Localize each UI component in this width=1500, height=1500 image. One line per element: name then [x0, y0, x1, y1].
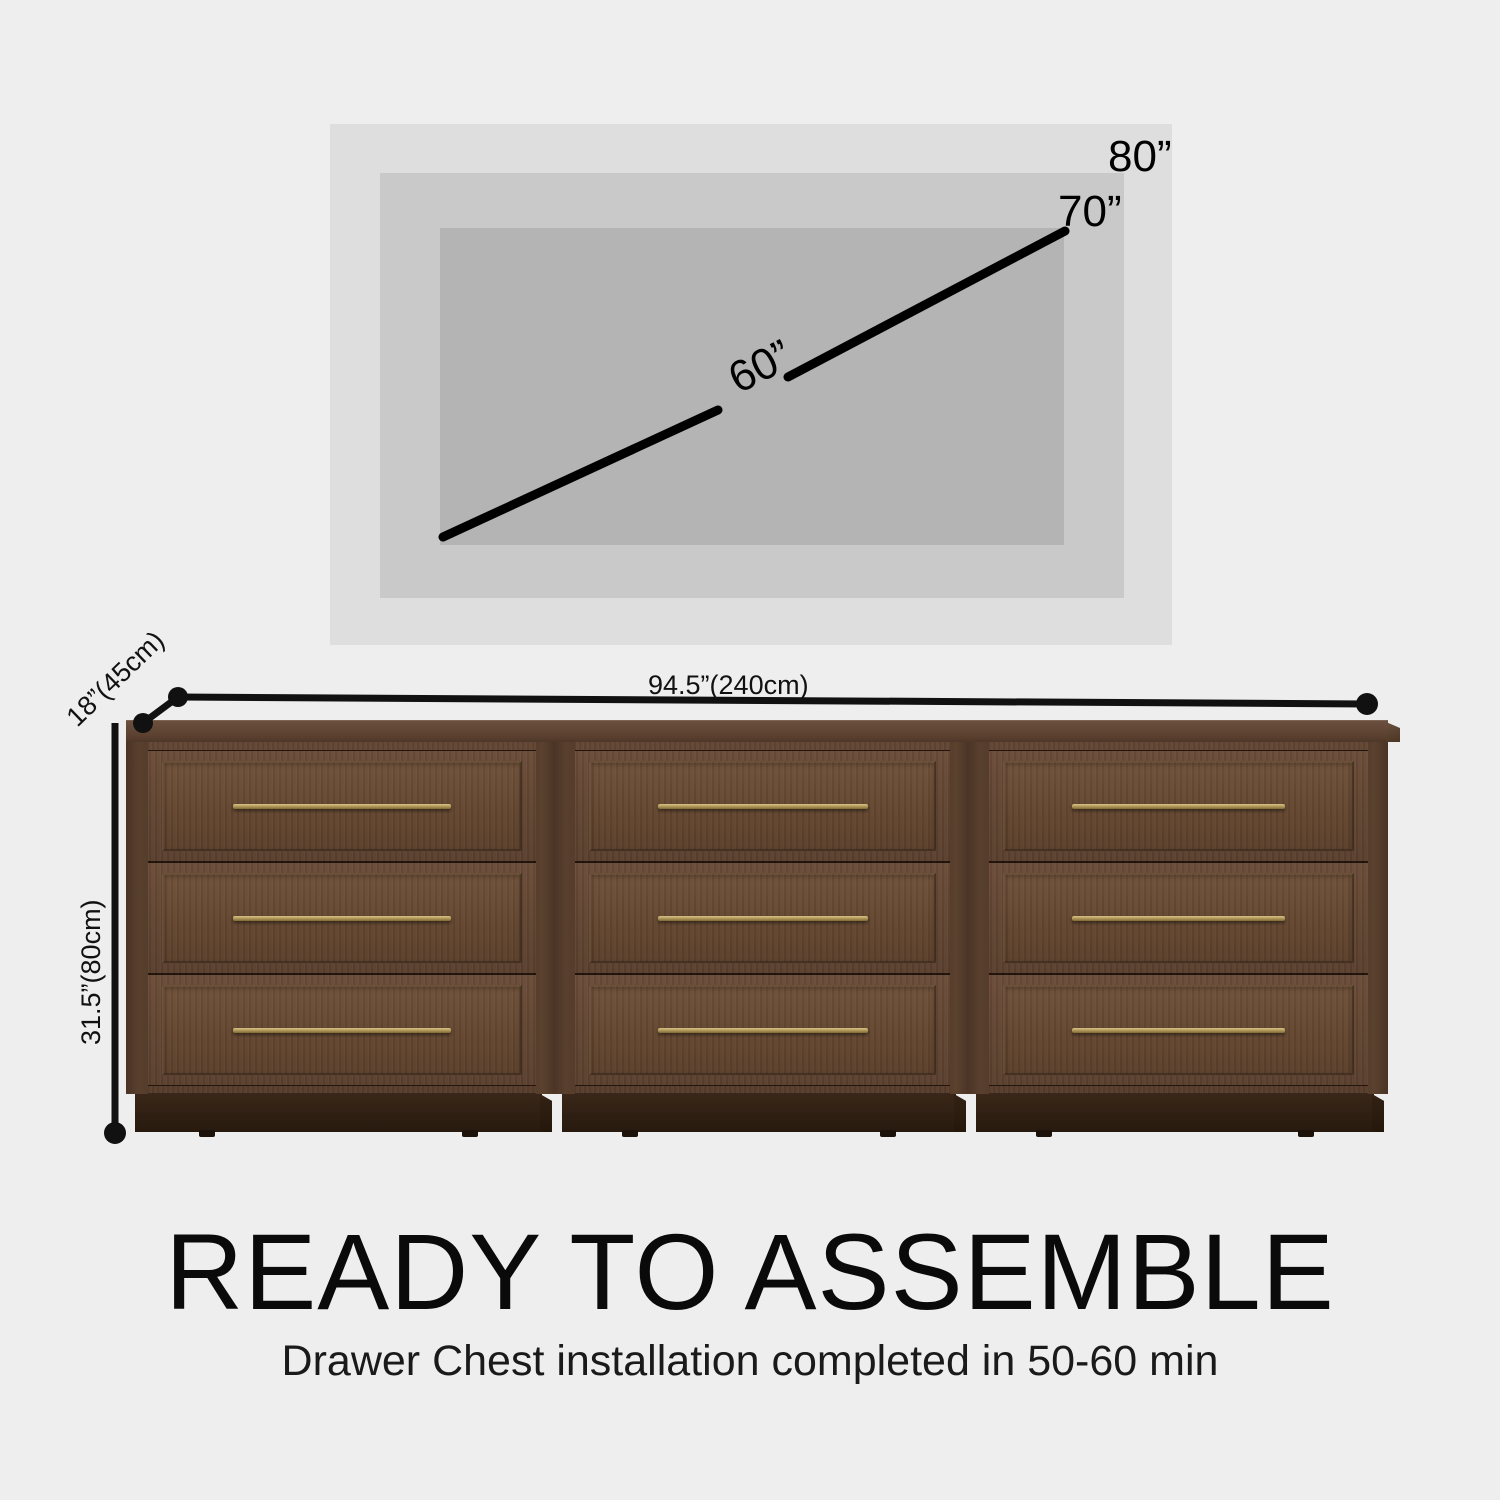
- drawer-front[interactable]: [148, 974, 536, 1086]
- module-plinth-base: [135, 1094, 542, 1132]
- module-plinth-base: [976, 1094, 1374, 1132]
- module-left-stile: [553, 742, 575, 1094]
- plinth-foot: [1036, 1130, 1052, 1137]
- module-left-stile: [967, 742, 989, 1094]
- drawer-pull-handle[interactable]: [658, 804, 868, 809]
- plinth-foot: [1298, 1130, 1314, 1137]
- marketing-headline: READY TO ASSEMBLE: [0, 1218, 1500, 1326]
- height-dimension-label: 31.5”(80cm): [78, 899, 105, 1045]
- drawer-pull-handle[interactable]: [233, 1028, 450, 1033]
- drawer-pull-handle[interactable]: [1072, 804, 1284, 809]
- screen-size-diagram: 80” 70” 60”: [330, 124, 1172, 645]
- module-carcass: [126, 720, 556, 1094]
- plinth-foot: [462, 1130, 478, 1137]
- width-start-dot: [168, 687, 188, 707]
- plinth-foot: [880, 1130, 896, 1137]
- drawer-front[interactable]: [148, 862, 536, 974]
- plinth-foot: [199, 1130, 215, 1137]
- drawer-front[interactable]: [989, 750, 1368, 862]
- drawer-stack: [989, 750, 1368, 1080]
- drawer-pull-handle[interactable]: [1072, 1028, 1284, 1033]
- screen-label-80in: 80”: [1108, 135, 1172, 179]
- drawer-pull-handle[interactable]: [658, 916, 868, 921]
- drawer-pull-handle[interactable]: [233, 916, 450, 921]
- drawer-front[interactable]: [989, 974, 1368, 1086]
- drawer-pull-handle[interactable]: [658, 1028, 868, 1033]
- marketing-subheadline: Drawer Chest installation completed in 5…: [0, 1340, 1500, 1383]
- module-right-stile: [1368, 742, 1388, 1094]
- module-carcass: [967, 720, 1388, 1094]
- module-left-stile: [126, 742, 148, 1094]
- drawer-chest-illustration: [126, 706, 1388, 1156]
- module-plinth-base: [562, 1094, 956, 1132]
- height-end-dot: [104, 1122, 126, 1144]
- poster-canvas: 80” 70” 60”: [0, 0, 1500, 1500]
- module-top-cap: [126, 720, 556, 742]
- screen-label-70in: 70”: [1058, 190, 1122, 234]
- drawer-pull-handle[interactable]: [233, 804, 450, 809]
- module-top-cap: [553, 720, 970, 742]
- width-dimension-label: 94.5”(240cm): [648, 672, 809, 699]
- module-carcass: [553, 720, 970, 1094]
- chest-module-left: [126, 706, 556, 1144]
- drawer-front[interactable]: [575, 862, 950, 974]
- drawer-front[interactable]: [989, 862, 1368, 974]
- drawer-pull-handle[interactable]: [1072, 916, 1284, 921]
- drawer-front[interactable]: [148, 750, 536, 862]
- drawer-front[interactable]: [575, 974, 950, 1086]
- plinth-foot: [622, 1130, 638, 1137]
- drawer-stack: [148, 750, 536, 1080]
- drawer-front[interactable]: [575, 750, 950, 862]
- chest-module-right: [967, 706, 1388, 1144]
- drawer-stack: [575, 750, 950, 1080]
- module-top-cap: [967, 720, 1388, 742]
- chest-module-middle: [553, 706, 970, 1144]
